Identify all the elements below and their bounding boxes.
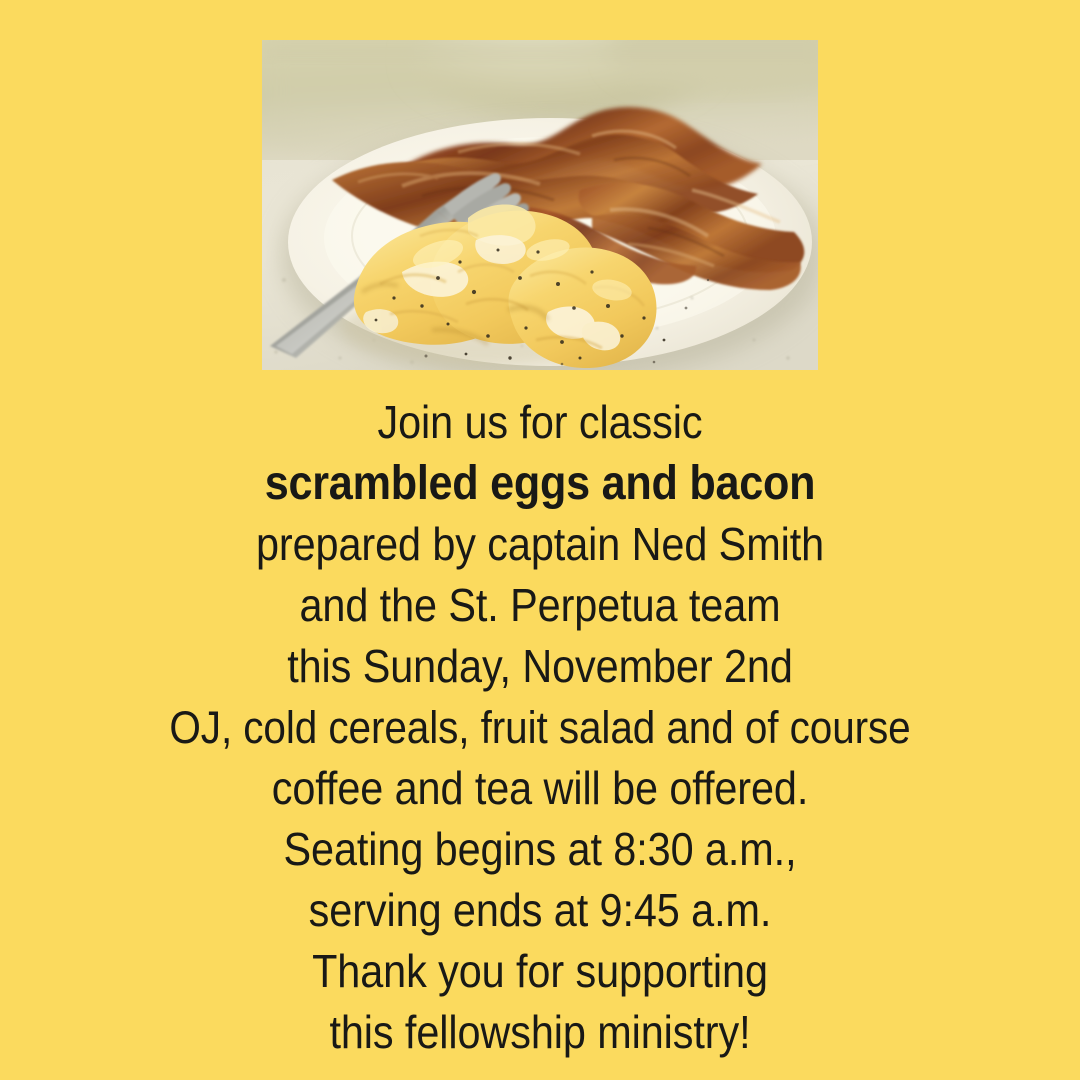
- message-line-6-sides: OJ, cold cereals, fruit salad and of cou…: [54, 697, 1026, 758]
- message-line-8-seating: Seating begins at 8:30 a.m.,: [54, 819, 1026, 880]
- message-line-10: Thank you for supporting: [54, 941, 1026, 1002]
- message-line-3: prepared by captain Ned Smith: [54, 514, 1026, 575]
- message-line-1: Join us for classic: [54, 392, 1026, 453]
- message-line-11: this fellowship ministry!: [54, 1002, 1026, 1063]
- announcement-text-block: Join us for classic scrambled eggs and b…: [0, 392, 1080, 1063]
- message-line-5-date: this Sunday, November 2nd: [54, 636, 1026, 697]
- message-line-9-serving-end: serving ends at 9:45 a.m.: [54, 880, 1026, 941]
- breakfast-photo-illustration: [262, 40, 818, 370]
- message-line-2-dish: scrambled eggs and bacon: [54, 453, 1026, 514]
- message-line-7-drinks: coffee and tea will be offered.: [54, 758, 1026, 819]
- breakfast-photo: [262, 40, 818, 370]
- breakfast-announcement-poster: Join us for classic scrambled eggs and b…: [0, 0, 1080, 1080]
- message-line-4: and the St. Perpetua team: [54, 575, 1026, 636]
